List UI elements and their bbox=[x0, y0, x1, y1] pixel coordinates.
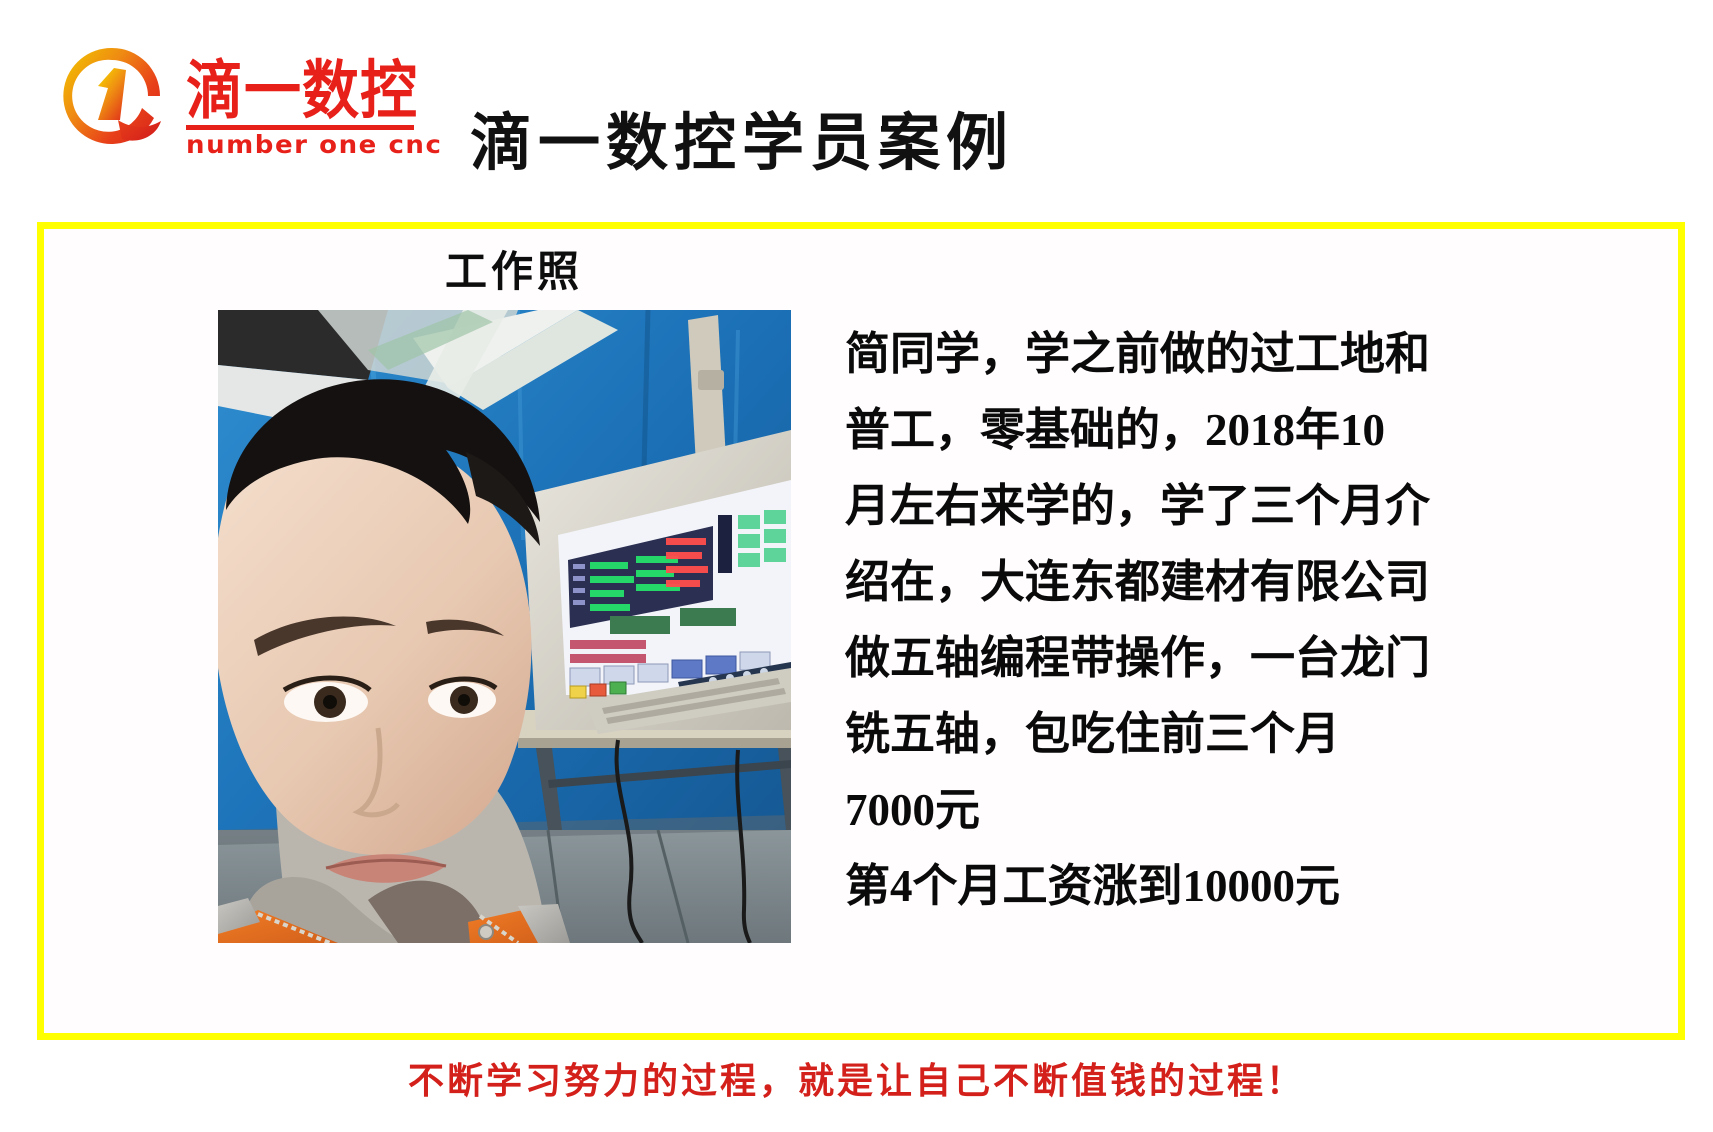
testimonial-line: 绍在，大连东都建材有限公司 bbox=[845, 544, 1525, 620]
testimonial-line: 第4个月工资涨到10000元 bbox=[845, 848, 1525, 924]
brand-name-cn: 滴一数控 bbox=[186, 60, 418, 124]
brand-name-en: number one cnc bbox=[186, 131, 427, 158]
page-title: 滴一数控学员案例 bbox=[470, 108, 1014, 180]
testimonial-line: 月左右来学的，学了三个月介 bbox=[845, 468, 1525, 544]
testimonial-line: 简同学，学之前做的过工地和 bbox=[845, 316, 1525, 392]
footer-slogan: 不断学习努力的过程，就是让自己不断值钱的过程！ bbox=[0, 1058, 1713, 1104]
number-one-swoosh-logo-icon bbox=[58, 42, 166, 150]
testimonial-line: 7000元 bbox=[845, 772, 1525, 848]
testimonial-line: 普工，零基础的，2018年10 bbox=[845, 392, 1525, 468]
brand-wordmark: 滴一数控 number one cnc bbox=[186, 60, 418, 152]
testimonial-line: 铣五轴，包吃住前三个月 bbox=[845, 696, 1525, 772]
photo-caption-label: 工作照 bbox=[445, 248, 583, 298]
testimonial-text: 简同学，学之前做的过工地和 普工，零基础的，2018年10 月左右来学的，学了三… bbox=[845, 316, 1525, 924]
brand-logo: 滴一数控 number one cnc bbox=[58, 38, 378, 153]
work-photo bbox=[218, 310, 791, 943]
testimonial-line: 做五轴编程带操作，一台龙门 bbox=[845, 620, 1525, 696]
